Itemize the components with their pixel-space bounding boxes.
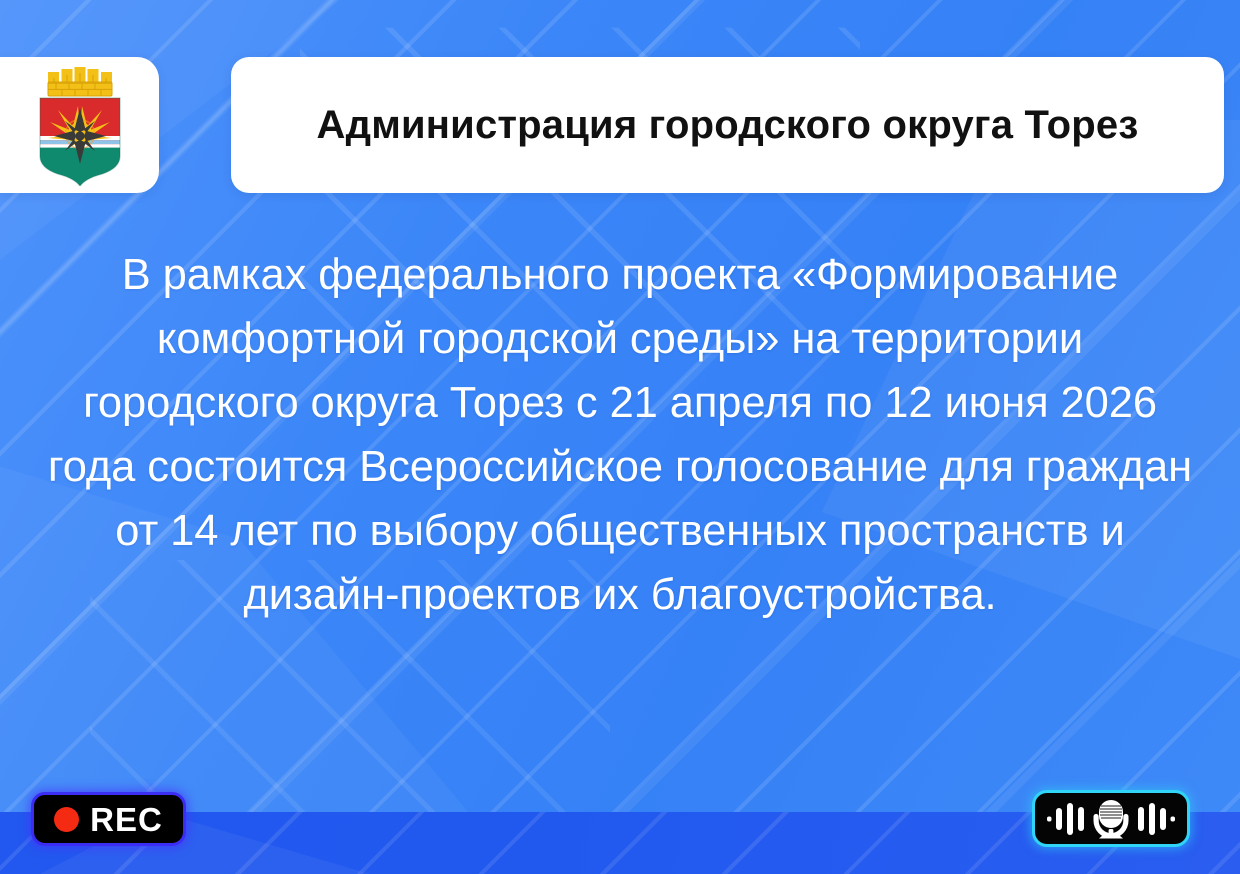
recording-badge[interactable]: REC	[31, 792, 186, 846]
slide-canvas: Администрация городского округа Торез В …	[0, 0, 1240, 874]
microphone-waveform-icon	[1045, 798, 1177, 840]
torez-coat-of-arms-icon	[26, 64, 134, 186]
record-dot-icon	[54, 807, 79, 832]
page-title: Администрация городского округа Торез	[317, 103, 1139, 148]
microphone-widget[interactable]	[1032, 790, 1190, 847]
recording-badge-label: REC	[90, 803, 163, 836]
logo-card	[0, 57, 159, 193]
announcement-text: В рамках федерального проекта «Формирова…	[46, 243, 1194, 627]
organization-title-card: Администрация городского округа Торез	[231, 57, 1224, 193]
